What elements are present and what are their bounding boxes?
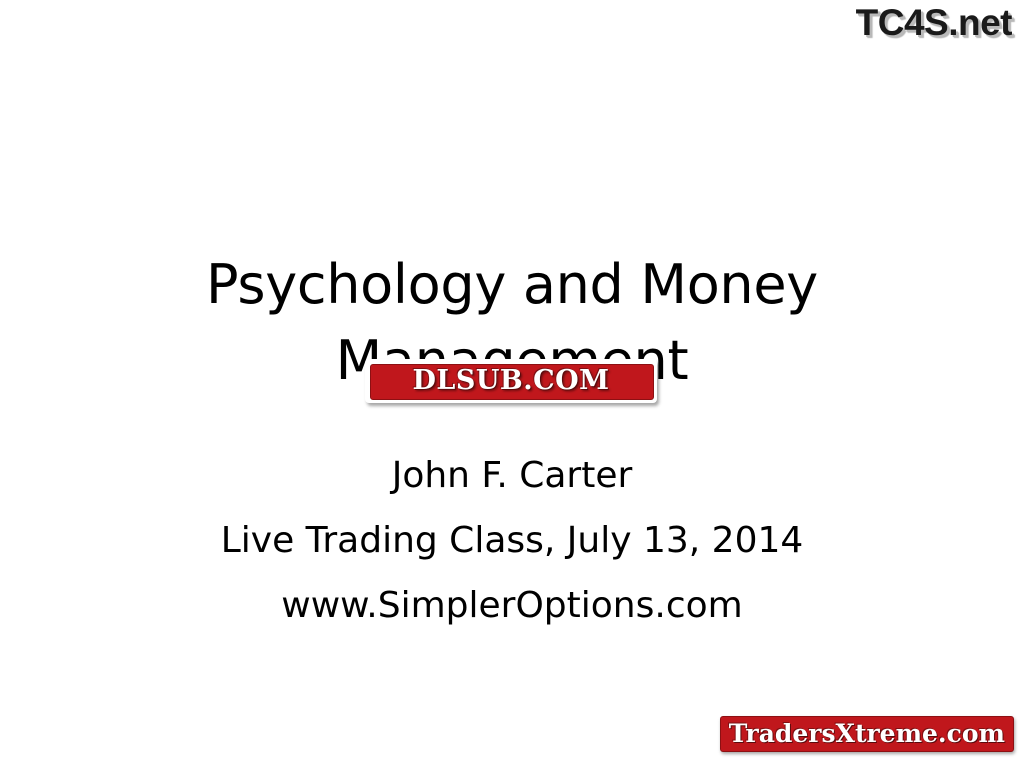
subtitle-line-presenter: John F. Carter (0, 443, 1024, 508)
tc4s-watermark: TC4S.net (856, 2, 1012, 44)
slide-subtitle: John F. Carter Live Trading Class, July … (0, 443, 1024, 638)
title-line-1: Psychology and Money (0, 247, 1024, 323)
presentation-slide: TC4S.net Psychology and Money Management… (0, 0, 1024, 768)
dlsub-watermark-label: DLSUB.COM (365, 359, 657, 403)
tradersxtreme-watermark-label: TradersXtreme.com (720, 716, 1014, 752)
subtitle-line-class-date: Live Trading Class, July 13, 2014 (0, 508, 1024, 573)
dlsub-watermark: DLSUB.COM (365, 359, 657, 403)
subtitle-line-website: www.SimplerOptions.com (0, 573, 1024, 638)
